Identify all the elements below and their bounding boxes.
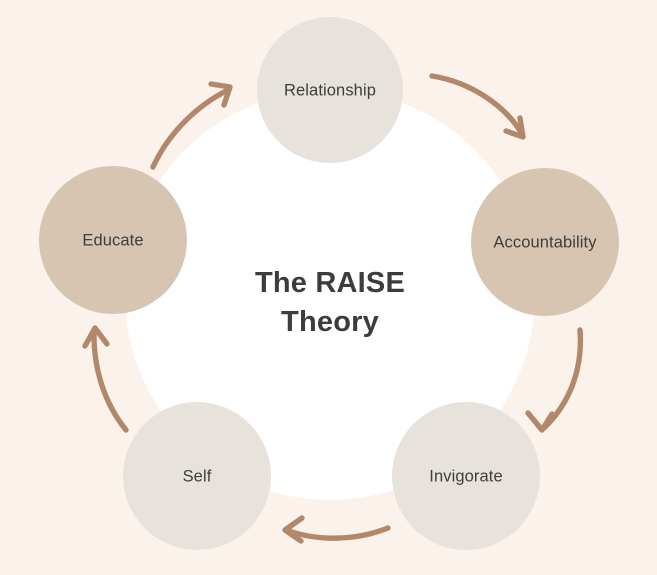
raise-theory-diagram: Relationship Accountability Invigorate S… <box>0 0 657 575</box>
node-invigorate-label: Invigorate <box>429 467 502 485</box>
node-invigorate[interactable]: Invigorate <box>392 402 540 550</box>
node-relationship-label: Relationship <box>284 81 376 99</box>
node-self-label: Self <box>183 467 212 485</box>
cycle-diagram-canvas: Relationship Accountability Invigorate S… <box>0 0 657 575</box>
node-educate[interactable]: Educate <box>39 166 187 314</box>
node-educate-label: Educate <box>82 231 143 249</box>
node-accountability[interactable]: Accountability <box>471 168 619 316</box>
center-title-line-1: The RAISE <box>255 267 405 299</box>
center-title-line-2: Theory <box>281 306 379 338</box>
node-accountability-label: Accountability <box>493 233 597 251</box>
node-relationship[interactable]: Relationship <box>257 17 403 163</box>
node-self[interactable]: Self <box>123 402 271 550</box>
